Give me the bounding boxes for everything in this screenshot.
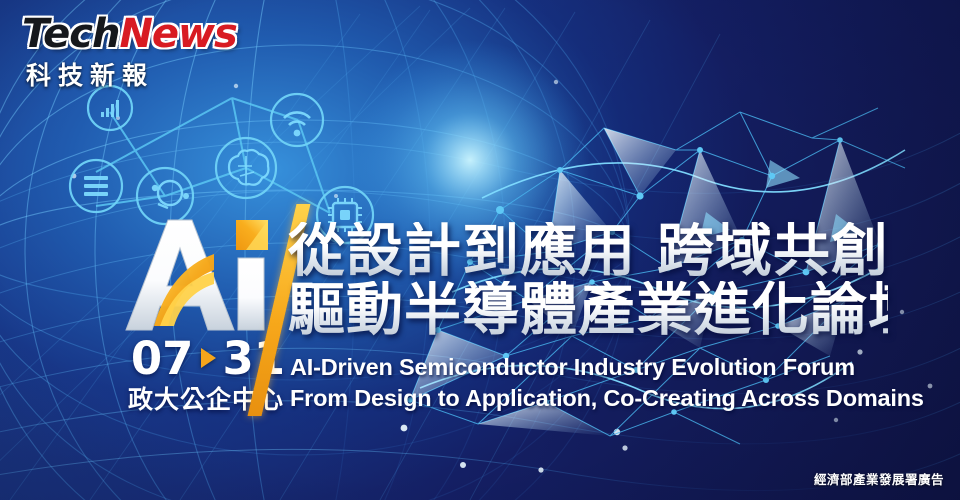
technews-logo[interactable]: TechNews 科技新報 — [18, 8, 193, 92]
sponsor-credit: 經濟部產業發展署廣告 — [814, 469, 944, 488]
logo-news-text: News — [119, 11, 236, 57]
ai-logo-mark — [116, 214, 284, 336]
date-start: 07 — [131, 336, 194, 381]
logo-tech-text: Tech — [22, 11, 119, 57]
headline-block: 從設計到應用 跨域共創 驅動半導體產業進化論壇 — [288, 222, 888, 341]
headline-line-2: 驅動半導體產業進化論壇 — [288, 281, 888, 340]
headline-line-1: 從設計到應用 跨域共創 — [288, 222, 888, 281]
subtitle-line-2: From Design to Application, Co-Creating … — [290, 383, 890, 414]
subtitle-line-1: AI-Driven Semiconductor Industry Evoluti… — [290, 352, 890, 383]
date-arrow-icon — [201, 348, 216, 368]
logo-chinese-text: 科技新報 — [26, 56, 154, 92]
event-banner: TechNews 科技新報 — [0, 0, 960, 500]
event-venue: 政大公企中心 — [116, 380, 296, 416]
subtitle-block: AI-Driven Semiconductor Industry Evoluti… — [290, 352, 890, 414]
